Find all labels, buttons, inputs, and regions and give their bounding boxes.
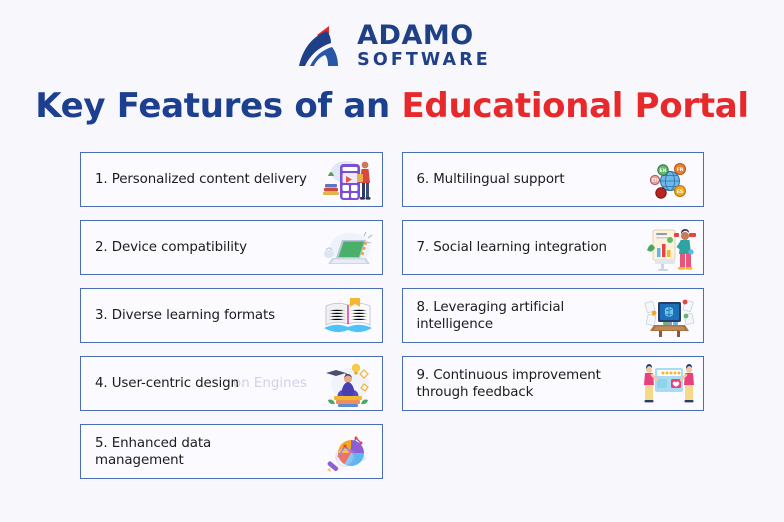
monitor-brain-ai-icon [641, 292, 697, 340]
brand-wordmark: ADAMO SOFTWARE [357, 22, 491, 70]
feature-label: 6. Multilingual support [417, 171, 642, 188]
feature-card-7[interactable]: 7. Social learning integration [402, 220, 705, 275]
person-idea-books-icon [320, 360, 376, 408]
presentation-person-icon [641, 224, 697, 272]
feature-card-4[interactable]: 4. User-centric design on Engines [80, 356, 383, 411]
feature-label: 3. Diverse learning formats [95, 307, 320, 324]
page-title-accent: Educational Portal [402, 86, 749, 126]
open-book-icon [320, 292, 376, 340]
page-title: Key Features of an Educational Portal [0, 86, 784, 126]
feature-label: 2. Device compatibility [95, 239, 320, 256]
page-title-main: Key Features of an [35, 86, 401, 126]
feature-column-right: 6. Multilingual support [402, 152, 705, 479]
svg-text:FR: FR [677, 166, 684, 172]
svg-text:EN: EN [660, 167, 667, 173]
globe-languages-icon: EN FR ZH ES [641, 156, 697, 204]
feature-label: 1. Personalized content delivery [95, 171, 320, 188]
feature-columns: 1. Personalized content delivery [80, 152, 704, 479]
laptop-icon [320, 224, 376, 272]
feature-column-left: 1. Personalized content delivery [80, 152, 383, 479]
brand-name-secondary: SOFTWARE [357, 52, 491, 70]
feature-label: 4. User-centric design [95, 375, 320, 392]
adamo-a-mark-icon [293, 22, 347, 70]
feature-card-9[interactable]: 9. Continuous improvement through feedba… [402, 356, 705, 411]
feature-card-5[interactable]: 5. Enhanced data management [80, 424, 383, 479]
feature-label: 7. Social learning integration [417, 239, 642, 256]
feature-card-6[interactable]: 6. Multilingual support [402, 152, 705, 207]
feature-card-3[interactable]: 3. Diverse learning formats [80, 288, 383, 343]
pie-chart-magnifier-icon [320, 428, 376, 476]
smartphone-learner-icon [320, 156, 376, 204]
brand-logo: ADAMO SOFTWARE [0, 22, 784, 70]
feature-label: 9. Continuous improvement through feedba… [417, 367, 642, 401]
feature-card-2[interactable]: 2. Device compatibility [80, 220, 383, 275]
feature-card-1[interactable]: 1. Personalized content delivery [80, 152, 383, 207]
svg-text:ES: ES [677, 188, 683, 194]
brand-name-primary: ADAMO [357, 22, 491, 49]
feature-card-8[interactable]: 8. Leveraging artificial intelligence [402, 288, 705, 343]
feature-label: 8. Leveraging artificial intelligence [417, 299, 642, 333]
svg-text:ZH: ZH [651, 177, 658, 183]
feature-label: 5. Enhanced data management [95, 435, 320, 469]
feedback-rating-icon [641, 360, 697, 408]
